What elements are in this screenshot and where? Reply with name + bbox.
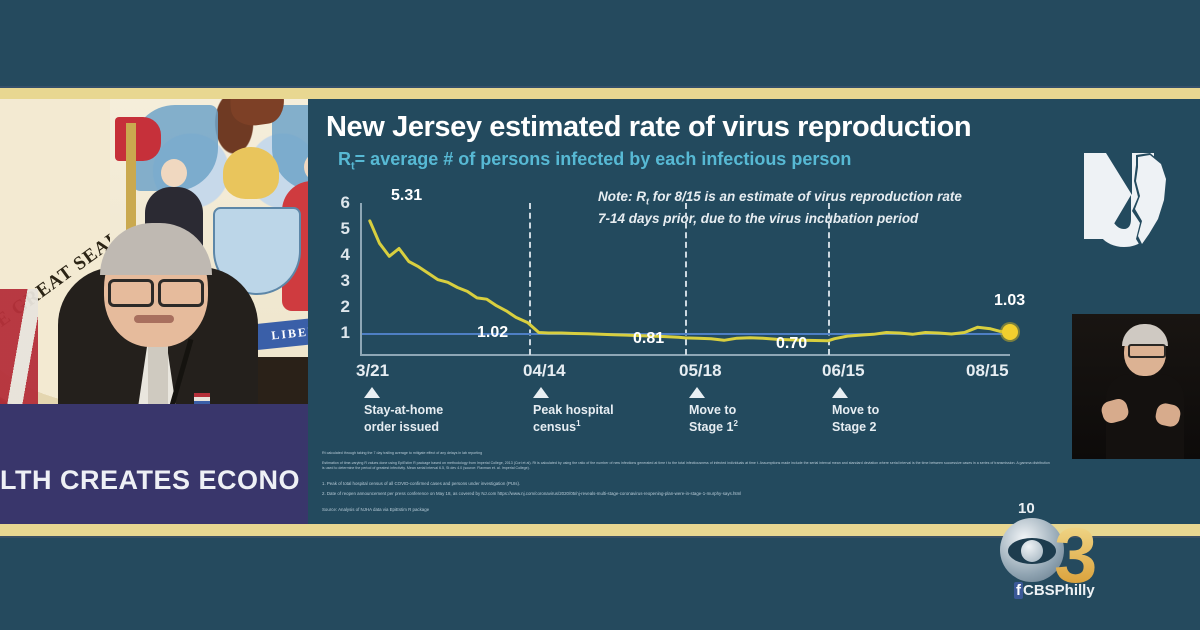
lower-third-text: LTH CREATES ECONO bbox=[0, 465, 308, 496]
right-rail bbox=[1060, 99, 1200, 524]
x-tick-3-21: 3/21 bbox=[356, 361, 389, 381]
footnote-method: Estimation of time-varying R values done… bbox=[322, 461, 1050, 471]
speaker-glasses bbox=[108, 279, 204, 301]
event-markers: Stay-at-homeorder issuedPeak hospitalcen… bbox=[360, 387, 1040, 451]
event-marker-06-15: Move toStage 2 bbox=[832, 387, 879, 436]
social-handle-text: CBSPhilly bbox=[1023, 582, 1095, 599]
footnote-source: Source: Analysis of NJHA data via EpiEst… bbox=[322, 507, 1022, 513]
podium-desk: LTH CREATES ECONO bbox=[0, 404, 308, 524]
broadcast-stage: THE GREAT SEAL OF LIBERTY bbox=[0, 0, 1200, 630]
chart-plot-area bbox=[360, 199, 1010, 355]
facebook-icon: f bbox=[1014, 582, 1023, 599]
footnote-1: 1. Peak of total hospital census of all … bbox=[322, 481, 1022, 487]
top-gold-band bbox=[0, 88, 1200, 99]
value-label-0-81: 0.81 bbox=[633, 330, 664, 348]
rt-series-line bbox=[360, 203, 1010, 359]
marker-caption: Stay-at-homeorder issued bbox=[364, 402, 443, 436]
footnote-2: 2. Date of reopen announcement per press… bbox=[322, 491, 1022, 497]
x-tick-08-15: 08/15 bbox=[966, 361, 1009, 381]
marker-caption: Move toStage 2 bbox=[832, 402, 879, 436]
event-marker-04-14: Peak hospitalcensus1 bbox=[533, 387, 614, 436]
y-tick-2: 2 bbox=[320, 297, 350, 317]
event-marker-3-21: Stay-at-homeorder issued bbox=[364, 387, 443, 436]
y-tick-1: 1 bbox=[320, 323, 350, 343]
slide-subtitle: Rt= average # of persons infected by eac… bbox=[338, 149, 851, 173]
crest-flag-cloth bbox=[115, 117, 161, 161]
x-axis-labels: 3/2104/1405/1806/1508/15 bbox=[360, 361, 1020, 381]
event-marker-05-18: Move toStage 12 bbox=[689, 387, 738, 436]
y-tick-6: 6 bbox=[320, 193, 350, 213]
speaker-mouth bbox=[134, 315, 174, 323]
triangle-marker-icon bbox=[689, 387, 705, 398]
station-bug: 10 3 fCBSPhilly bbox=[1000, 500, 1190, 600]
x-tick-06-15: 06/15 bbox=[822, 361, 865, 381]
value-label-5-31: 5.31 bbox=[391, 187, 422, 205]
asl-interpreter-video bbox=[1072, 314, 1200, 459]
x-tick-04-14: 04/14 bbox=[523, 361, 566, 381]
social-handle: fCBSPhilly bbox=[1014, 582, 1095, 599]
triangle-marker-icon bbox=[533, 387, 549, 398]
governor-video-panel: THE GREAT SEAL OF LIBERTY bbox=[0, 99, 308, 524]
y-tick-3: 3 bbox=[320, 271, 350, 291]
value-label-1-03: 1.03 bbox=[994, 292, 1025, 310]
subtitle-rest: = average # of persons infected by each … bbox=[355, 149, 852, 169]
triangle-marker-icon bbox=[364, 387, 380, 398]
triangle-marker-icon bbox=[832, 387, 848, 398]
crest-helm bbox=[223, 147, 279, 199]
slide-title: New Jersey estimated rate of virus repro… bbox=[326, 111, 971, 144]
y-tick-5: 5 bbox=[320, 219, 350, 239]
marker-caption: Peak hospitalcensus1 bbox=[533, 402, 614, 436]
new-jersey-state-logo bbox=[1078, 147, 1182, 259]
channel-number: 10 bbox=[1018, 500, 1035, 517]
value-label-0-70: 0.70 bbox=[776, 335, 807, 353]
footnote-rt: Rt calculated through taking the 7 day t… bbox=[322, 451, 1022, 456]
value-label-1-02: 1.02 bbox=[477, 324, 508, 342]
x-tick-05-18: 05/18 bbox=[679, 361, 722, 381]
marker-caption: Move toStage 12 bbox=[689, 402, 738, 436]
y-tick-4: 4 bbox=[320, 245, 350, 265]
rt-line-chart: 123456 5.311.020.810.701.03 bbox=[322, 199, 1012, 369]
subtitle-r: R bbox=[338, 149, 351, 169]
endpoint-marker bbox=[1002, 324, 1018, 340]
presentation-slide: New Jersey estimated rate of virus repro… bbox=[308, 99, 1060, 524]
